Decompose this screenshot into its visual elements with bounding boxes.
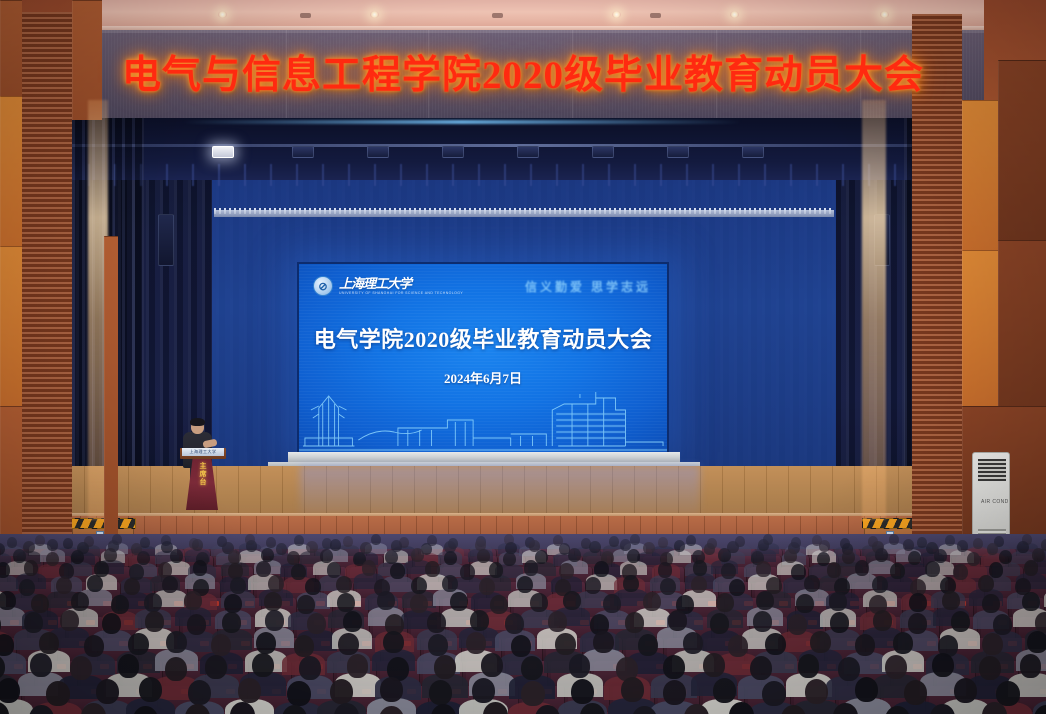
audience-member-head: [842, 550, 855, 564]
audience-member-head: [505, 613, 524, 634]
stage-light-fixture: [367, 146, 389, 158]
audience-member-head: [165, 657, 187, 681]
audience-member-head: [228, 550, 241, 564]
audience-member-head: [479, 578, 495, 595]
audience-member-head: [524, 560, 539, 576]
audience-member-head: [953, 564, 968, 580]
audience-member-head: [137, 551, 150, 565]
audience-member-head: [377, 591, 395, 610]
audience-member-head: [658, 562, 673, 578]
audience-member-head: [320, 549, 333, 563]
audience-member-head: [63, 538, 73, 549]
audience-member-head: [336, 576, 352, 593]
audience-member-head: [444, 551, 457, 565]
stage-light-fixture: [592, 146, 614, 158]
slide-title: 电气学院2020级毕业教育动员大会: [299, 322, 667, 354]
audience-member-head: [256, 561, 271, 577]
audience-member-head: [989, 562, 1004, 578]
audience-member-head: [830, 612, 849, 633]
audience-member-head: [889, 534, 899, 545]
audience-member-head: [925, 561, 940, 577]
podium-front-text: 主席台: [197, 462, 209, 486]
audience-member-head: [427, 612, 446, 633]
audience-member-head: [625, 612, 644, 633]
audience-member-head: [224, 594, 242, 613]
audience-member-head: [890, 563, 905, 579]
event-banner-text: 电气与信息工程学院2020级毕业教育动员大会: [0, 44, 1046, 100]
audience-member-head: [932, 653, 954, 677]
audience-member-head: [686, 535, 696, 546]
audience-member-head: [307, 613, 326, 634]
audience-member-head: [810, 631, 830, 653]
audience-member-head: [1020, 654, 1042, 678]
audience-member-head: [627, 549, 640, 563]
audience-member-head: [756, 561, 771, 577]
audience-member-head: [563, 591, 581, 610]
audience-member-head: [788, 614, 807, 635]
audience-member-head: [1027, 631, 1046, 653]
audience-member-head: [585, 577, 601, 594]
audience-member-head: [87, 575, 103, 592]
audience-member-head: [70, 656, 92, 680]
audience-member-head: [718, 548, 731, 562]
audience-member-head: [287, 681, 310, 706]
audience-member-head: [729, 579, 745, 596]
audience-member-head: [982, 633, 1002, 655]
audience-member-head: [299, 656, 321, 680]
audience-member-head: [872, 576, 888, 593]
audience-member-head: [521, 681, 544, 706]
audience-member-head: [124, 578, 140, 595]
audience-member-head: [434, 655, 456, 679]
audience-member-head: [84, 635, 104, 657]
audience-member-head: [903, 539, 915, 552]
audience-member-head: [472, 678, 495, 703]
ceiling-downlight: [880, 11, 889, 18]
audience-member-head: [460, 564, 475, 580]
audience-member-head: [855, 677, 878, 702]
audience-member-head: [187, 614, 206, 635]
university-motto: 信义勤爱 思学志远: [525, 278, 651, 295]
audience-member-head: [139, 677, 162, 702]
audience-member-head: [261, 548, 274, 562]
audience-member-head: [658, 537, 668, 548]
audience-member-head: [979, 656, 1001, 680]
audience-member-head: [758, 539, 770, 552]
speaker-hair: [190, 418, 205, 426]
audience-member-head: [46, 552, 59, 566]
audience-member-head: [170, 549, 183, 563]
audience-member-head: [791, 564, 806, 580]
audience-member-head: [428, 634, 448, 656]
audience-member-head: [643, 542, 655, 555]
audience-member-head: [0, 562, 10, 578]
stage-speaker-box: [158, 214, 174, 266]
audience-member-head: [184, 591, 202, 610]
audience-member-head: [521, 656, 543, 680]
audience-member-head: [46, 681, 69, 706]
audience-member-head: [827, 562, 842, 578]
university-seal-icon: ⊘: [313, 276, 333, 296]
audience-member-head: [668, 610, 687, 631]
audience-member-head: [663, 680, 686, 705]
audience-member-head: [982, 594, 1000, 613]
audience-member-head: [693, 560, 708, 576]
audience-member-head: [490, 595, 508, 614]
audience-member-head: [291, 564, 306, 580]
audience-member-head: [885, 655, 907, 679]
audience-member-head: [330, 679, 353, 704]
audience-member-head: [893, 632, 913, 654]
audience-member-head: [555, 633, 575, 655]
audience-member-head: [252, 653, 274, 677]
audience-member-head: [47, 539, 59, 552]
audience-member-head: [660, 578, 676, 595]
audience-member-head: [594, 561, 609, 577]
audience-member-head: [796, 594, 814, 613]
ceiling-downlight: [370, 11, 379, 18]
audience-member-head: [287, 551, 300, 565]
audience-member-head: [804, 575, 820, 592]
audience-member-head: [1017, 541, 1029, 554]
audience-member-head: [330, 539, 342, 552]
audience-member-head: [264, 592, 282, 611]
audience-member-head: [728, 635, 748, 657]
stage-light-fixture: [442, 146, 464, 158]
audience-member-head: [603, 594, 621, 613]
audience-member-head: [222, 612, 241, 633]
audience-member-head: [993, 614, 1012, 635]
audience-member-head: [118, 654, 140, 678]
university-name-cn: 上海理工大学: [339, 277, 463, 290]
audience-member-head: [0, 591, 16, 610]
audience-member-head: [477, 549, 490, 563]
audience-member-head: [908, 551, 921, 565]
audience-member-head: [166, 631, 186, 653]
right-wall-panel: [962, 250, 998, 406]
audience-member-head: [489, 562, 504, 578]
audience-member-head: [24, 560, 39, 576]
audience-member-head: [945, 535, 955, 546]
audience-member-head: [385, 550, 398, 564]
audience-member-head: [750, 656, 772, 680]
audience-member-head: [957, 540, 969, 553]
audience-member-head: [442, 575, 458, 592]
audience-member-head: [266, 537, 276, 548]
audience-member-head: [362, 560, 377, 576]
audience-member-head: [904, 680, 927, 705]
audience-member-head: [145, 611, 164, 632]
audience-member-head: [24, 612, 43, 633]
audience-member-head: [211, 634, 231, 656]
audience-member-head: [265, 610, 284, 631]
audience-member-head: [60, 610, 79, 631]
audience-member-head: [703, 653, 725, 677]
right-wall-light-strip: [862, 100, 886, 520]
audience-member-head: [609, 536, 619, 547]
audience-member-head: [238, 678, 261, 703]
stage-light-fixture: [292, 146, 314, 158]
podium-sign: 上海理工大学: [182, 448, 224, 456]
audience-member-head: [144, 593, 162, 612]
audience-member-head: [7, 537, 17, 548]
audience-member-head: [39, 632, 59, 654]
audience-member-head: [337, 593, 355, 612]
ceiling-glow-strip: [182, 120, 742, 124]
audience-member-head: [205, 655, 227, 679]
audience-member-head: [380, 677, 403, 702]
audience-member-head: [128, 633, 148, 655]
audience-member-head: [623, 575, 639, 592]
audience-member-head: [425, 561, 440, 577]
projection-screen: ⊘ 上海理工大学 UNIVERSITY OF SHANGHAI FOR SCIE…: [297, 262, 669, 454]
audience-member-head: [104, 548, 117, 562]
audience-member-head: [716, 593, 734, 612]
audience-member-head: [548, 611, 567, 632]
audience-member-head: [268, 575, 284, 592]
audience-member-head: [466, 632, 486, 654]
university-name-en: UNIVERSITY OF SHANGHAI FOR SCIENCE AND T…: [339, 292, 463, 296]
audience-member-head: [568, 548, 581, 562]
audience-member-head: [710, 613, 729, 634]
audience-member-head: [951, 611, 970, 632]
ac-brand-label: AIR COND: [981, 499, 1009, 505]
audience-member-head: [954, 678, 977, 703]
audience-member-head: [908, 613, 927, 634]
audience-member-head: [429, 680, 452, 705]
audience-seating-area: [0, 534, 1046, 714]
ceiling-downlight: [612, 11, 621, 18]
audience-member-head: [756, 591, 774, 610]
audience-member-head: [978, 575, 994, 592]
left-wall-panel: [104, 236, 118, 536]
audience-member-head: [535, 550, 548, 564]
audience-member-head: [530, 593, 548, 612]
audience-member-head: [450, 592, 468, 611]
audience-member-head: [192, 539, 204, 552]
audience-member-head: [643, 592, 661, 611]
audience-member-head: [162, 576, 178, 593]
stage-light-fixture: [517, 146, 539, 158]
audience-member-head: [503, 552, 516, 566]
campus-skyline-icon: [299, 380, 667, 452]
audience-member-head: [96, 679, 119, 704]
audience-member-head: [102, 613, 121, 634]
ceiling-vent: [650, 13, 661, 18]
audience-member-head: [713, 678, 736, 703]
ceiling-downlight: [218, 11, 227, 18]
audience-member-head: [784, 549, 797, 563]
audience-member-head: [999, 550, 1012, 564]
audience-member-head: [805, 679, 828, 704]
audience-member-head: [593, 631, 613, 653]
audience-member-head: [873, 610, 892, 631]
audience-member-head: [765, 633, 785, 655]
ac-vent-grill-icon: [978, 459, 1006, 481]
wall-trim-band: [0, 30, 1046, 33]
audience-member-head: [347, 654, 369, 678]
audience-member-head: [338, 633, 358, 655]
audience-member-head: [19, 579, 35, 596]
audience-member-head: [1035, 612, 1046, 633]
stage-light-fixture: [667, 146, 689, 158]
audience-member-head: [819, 540, 831, 553]
audience-member-head: [589, 541, 601, 554]
stage-spotlight-icon: [212, 146, 234, 158]
audience-member-head: [638, 634, 658, 656]
audience-member-head: [481, 653, 503, 677]
audience-member-head: [691, 576, 707, 593]
audience-member-head: [188, 680, 211, 705]
audience-member-head: [630, 534, 640, 545]
university-logo: ⊘ 上海理工大学 UNIVERSITY OF SHANGHAI FOR SCIE…: [313, 276, 463, 296]
audience-member-head: [973, 538, 983, 549]
audience-member-head: [942, 591, 960, 610]
audience-member-head: [31, 594, 49, 613]
audience-member-head: [0, 678, 20, 703]
audience-member-head: [517, 576, 533, 593]
audience-member-head: [838, 657, 860, 681]
audience-member-head: [829, 592, 847, 611]
backdrop-rail: [214, 210, 834, 217]
audience-member-head: [111, 595, 129, 614]
audience-member-head: [390, 563, 405, 579]
audience-member-head: [294, 535, 304, 546]
audience-member-head: [470, 610, 489, 631]
audience-member-head: [798, 654, 820, 678]
auditorium-photo: 电气与信息工程学院2020级毕业教育动员大会 ⊘ 上海理工大学: [0, 0, 1046, 714]
audience-member-head: [71, 550, 84, 564]
audience-member-head: [410, 594, 428, 613]
audience-member-head: [721, 563, 736, 579]
audience-member-head: [967, 552, 980, 566]
audience-member-head: [306, 541, 318, 554]
audience-member-head: [663, 655, 685, 679]
audience-member-head: [571, 679, 594, 704]
audience-member-head: [193, 560, 208, 576]
stage-light-fixture: [742, 146, 764, 158]
audience-member-head: [35, 535, 45, 546]
audience-member-head: [305, 578, 321, 595]
left-wall-panel: [0, 96, 22, 246]
audience-member-head: [343, 536, 353, 547]
audience-member-head: [621, 677, 644, 702]
audience-member-head: [569, 654, 591, 678]
ceiling-vent: [300, 13, 311, 18]
audience-member-head: [230, 577, 246, 594]
audience-member-head: [855, 560, 870, 576]
audience-member-head: [411, 577, 427, 594]
audience-member-head: [762, 681, 785, 706]
right-wall-panel: [962, 100, 998, 250]
audience-member-head: [383, 631, 403, 653]
audience-member-head: [1024, 560, 1039, 576]
audience-member-head: [343, 611, 362, 632]
audience-member-head: [327, 562, 342, 578]
audience-member-head: [30, 653, 52, 677]
audience-member-head: [683, 632, 703, 654]
audience-member-head: [875, 548, 888, 562]
valance-scallop: [62, 164, 986, 186]
audience-member-head: [855, 634, 875, 656]
audience-member-head: [294, 635, 314, 657]
audience-member-head: [297, 595, 315, 614]
audience-member-head: [411, 548, 424, 562]
audience-member-head: [246, 540, 258, 553]
ceiling-vent: [492, 13, 503, 18]
audience-member-head: [71, 592, 89, 611]
audience-member-head: [256, 632, 276, 654]
audience-member-head: [1022, 592, 1040, 611]
audience-member-head: [56, 577, 72, 594]
slide-surface: ⊘ 上海理工大学 UNIVERSITY OF SHANGHAI FOR SCIE…: [299, 264, 667, 452]
audience-member-head: [13, 549, 26, 563]
left-wall-panel: [0, 246, 22, 406]
audience-member-head: [753, 611, 772, 632]
audience-member-head: [674, 540, 686, 553]
audience-member-head: [511, 635, 531, 657]
audience-member-head: [559, 563, 574, 579]
audience-member-head: [371, 534, 381, 545]
audience-member-head: [909, 593, 927, 612]
ceiling-downlight: [730, 11, 739, 18]
